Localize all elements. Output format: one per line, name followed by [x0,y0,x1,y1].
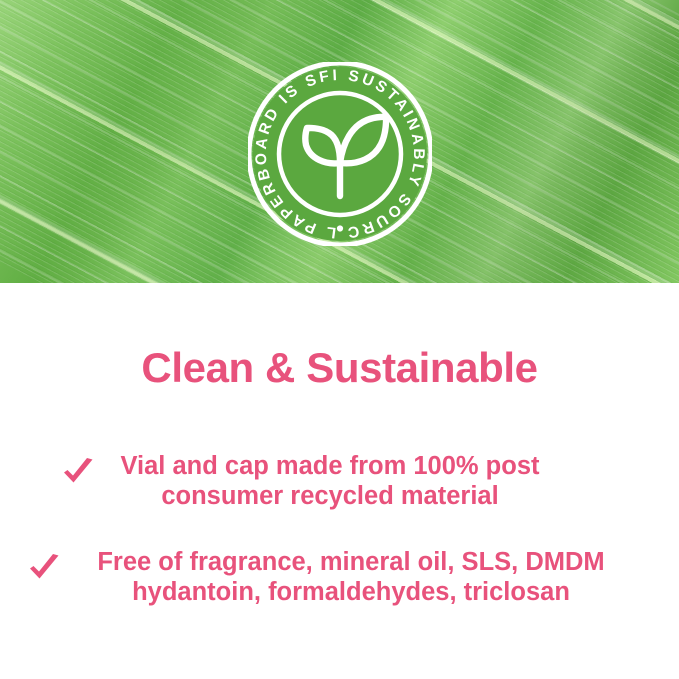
list-item-line-1: Vial and cap made from 100% post [105,451,555,481]
sfi-sustainably-sourced-badge: ALL PAPERBOARD IS SFI SUSTAINABLY SOURCE… [248,62,432,246]
badge-separator-dot [337,225,343,231]
list-item-text: Vial and cap made from 100% post consume… [105,451,555,511]
page-title: Clean & Sustainable [0,347,679,389]
content-panel: Clean & Sustainable Vial and cap made fr… [0,283,679,679]
list-item: Vial and cap made from 100% post consume… [0,451,679,511]
leaf-background-banner: ALL PAPERBOARD IS SFI SUSTAINABLY SOURCE… [0,0,679,283]
check-icon [28,553,61,588]
list-item-line-1: Free of fragrance, mineral oil, SLS, DMD… [71,547,631,577]
product-infographic-page: ALL PAPERBOARD IS SFI SUSTAINABLY SOURCE… [0,0,679,679]
list-item-line-2: hydantoin, formaldehydes, triclosan [71,577,631,607]
list-item: Free of fragrance, mineral oil, SLS, DMD… [0,547,679,607]
list-item-text: Free of fragrance, mineral oil, SLS, DMD… [71,547,631,607]
list-item-line-2: consumer recycled material [105,481,555,511]
check-icon [62,457,95,492]
